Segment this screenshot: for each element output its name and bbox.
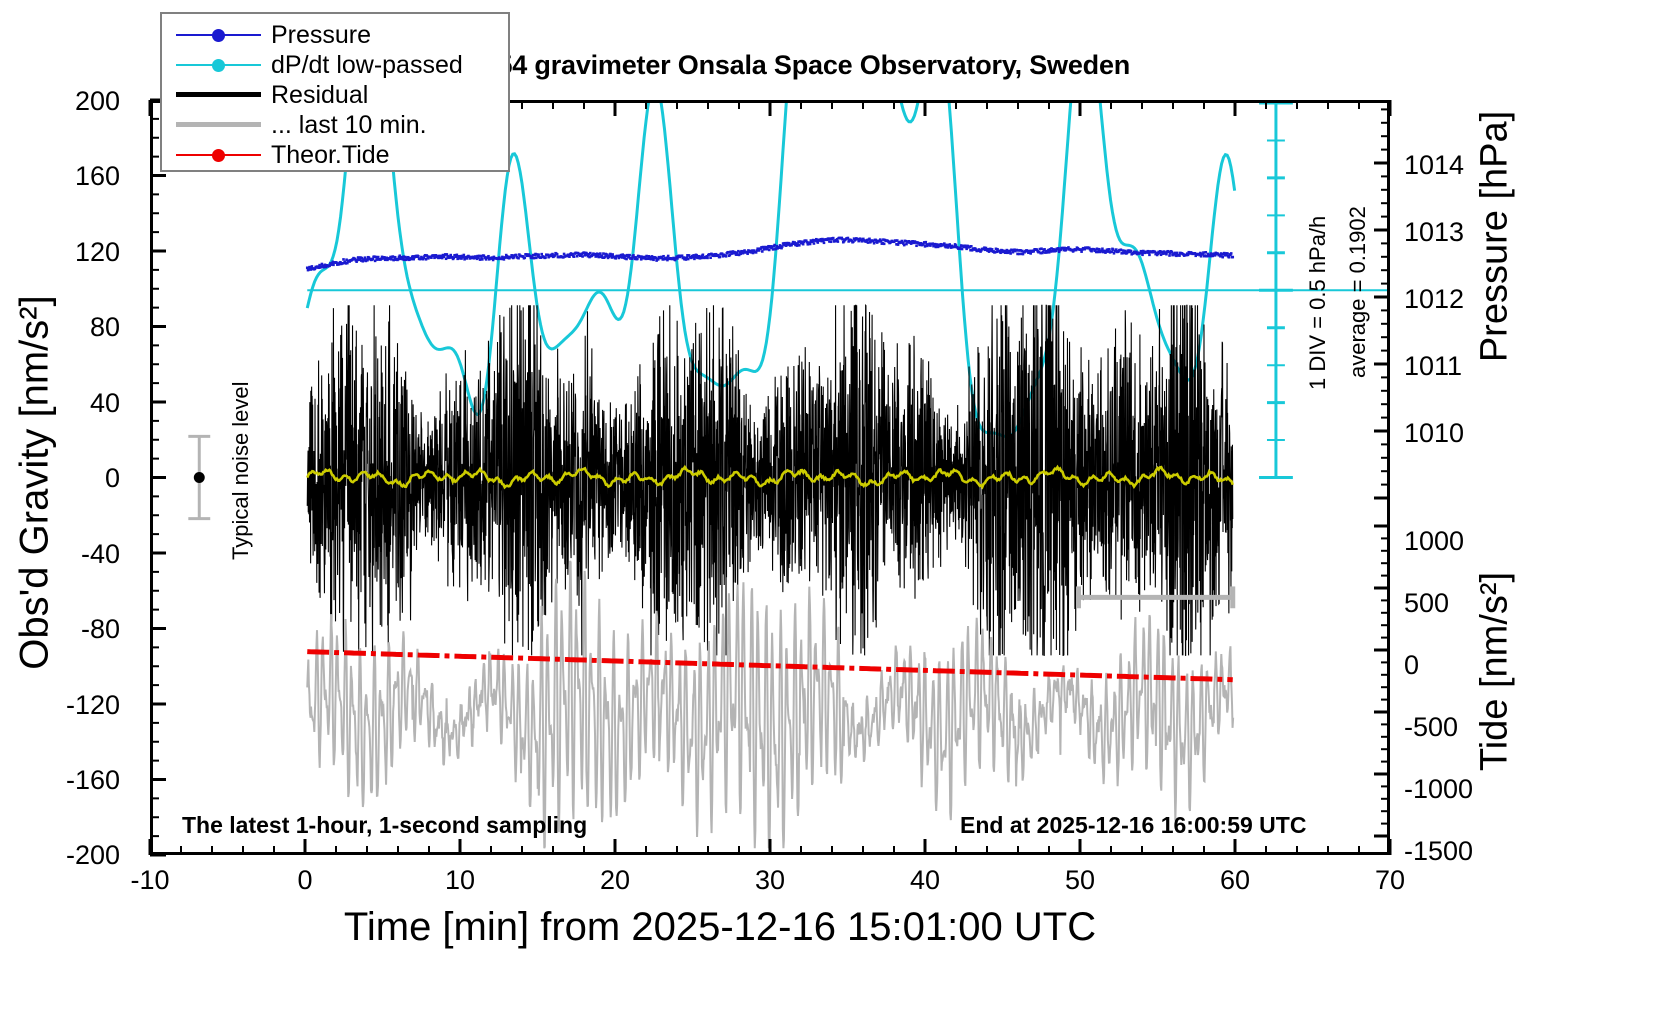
legend: Pressure dP/dt low-passed Residual ... l…: [160, 12, 510, 172]
x-tick-label: 0: [260, 865, 350, 896]
legend-swatch-icon: [176, 20, 261, 50]
legend-label: Residual: [271, 81, 368, 110]
x-tick-label: 50: [1035, 865, 1125, 896]
y-tick-label: 80: [28, 312, 120, 343]
y3-tick-label: 500: [1404, 588, 1514, 619]
legend-item-last10min: ... last 10 min.: [176, 110, 508, 140]
y2-tick-label: 1014: [1404, 150, 1514, 181]
x-tick-label: 10: [415, 865, 505, 896]
plot-canvas: [153, 103, 1387, 852]
y3-tick-label: 1000: [1404, 526, 1514, 557]
plot-area: [150, 100, 1390, 855]
legend-label: Theor.Tide: [271, 141, 390, 170]
y2-tick-label: 1013: [1404, 217, 1514, 248]
x-tick-label: -10: [105, 865, 195, 896]
y2-tick-label: 1010: [1404, 418, 1514, 449]
latest-sampling-note: The latest 1-hour, 1-second sampling: [182, 812, 587, 839]
y-tick-label: -40: [28, 539, 120, 570]
y3-tick-label: -500: [1404, 712, 1514, 743]
y-tick-label: -80: [28, 614, 120, 645]
y-tick-label: 120: [28, 237, 120, 268]
legend-label: Pressure: [271, 21, 371, 50]
y-tick-label: 200: [28, 86, 120, 117]
div-scale-note: 1 DIV = 0.5 hPa/h: [1305, 216, 1331, 390]
legend-item-pressure: Pressure: [176, 20, 508, 50]
x-tick-label: 20: [570, 865, 660, 896]
y3-tick-label: 0: [1404, 650, 1514, 681]
data-traces: [188, 103, 1387, 848]
x-tick-label: 60: [1190, 865, 1280, 896]
legend-item-theor-tide: Theor.Tide: [176, 140, 508, 170]
legend-swatch-icon: [176, 110, 261, 140]
y2-tick-label: 1012: [1404, 284, 1514, 315]
legend-item-residual: Residual: [176, 80, 508, 110]
end-time-note: End at 2025-12-16 16:00:59 UTC: [960, 812, 1306, 839]
average-note: average = 0.1902: [1345, 206, 1371, 378]
y-tick-label: 40: [28, 388, 120, 419]
legend-swatch-icon: [176, 140, 261, 170]
y-tick-label: -160: [28, 765, 120, 796]
x-tick-label: 30: [725, 865, 815, 896]
y2-tick-label: 1011: [1404, 351, 1514, 382]
legend-swatch-icon: [176, 50, 261, 80]
legend-label: ... last 10 min.: [271, 111, 427, 140]
legend-label: dP/dt low-passed: [271, 51, 463, 80]
y3-tick-label: -1500: [1404, 836, 1514, 867]
x-axis-title: Time [min] from 2025-12-16 15:01:00 UTC: [0, 905, 1440, 950]
gravimeter-chart-page: SCG_054 gravimeter Onsala Space Observat…: [0, 0, 1660, 1020]
x-tick-label: 40: [880, 865, 970, 896]
noise-level-note: Typical noise level: [228, 381, 254, 560]
y-tick-label: -120: [28, 690, 120, 721]
y-tick-label: 0: [28, 463, 120, 494]
x-tick-label: 70: [1345, 865, 1435, 896]
legend-swatch-icon: [176, 80, 261, 110]
legend-item-dpdt: dP/dt low-passed: [176, 50, 508, 80]
y-tick-label: 160: [28, 161, 120, 192]
y3-tick-label: -1000: [1404, 774, 1514, 805]
